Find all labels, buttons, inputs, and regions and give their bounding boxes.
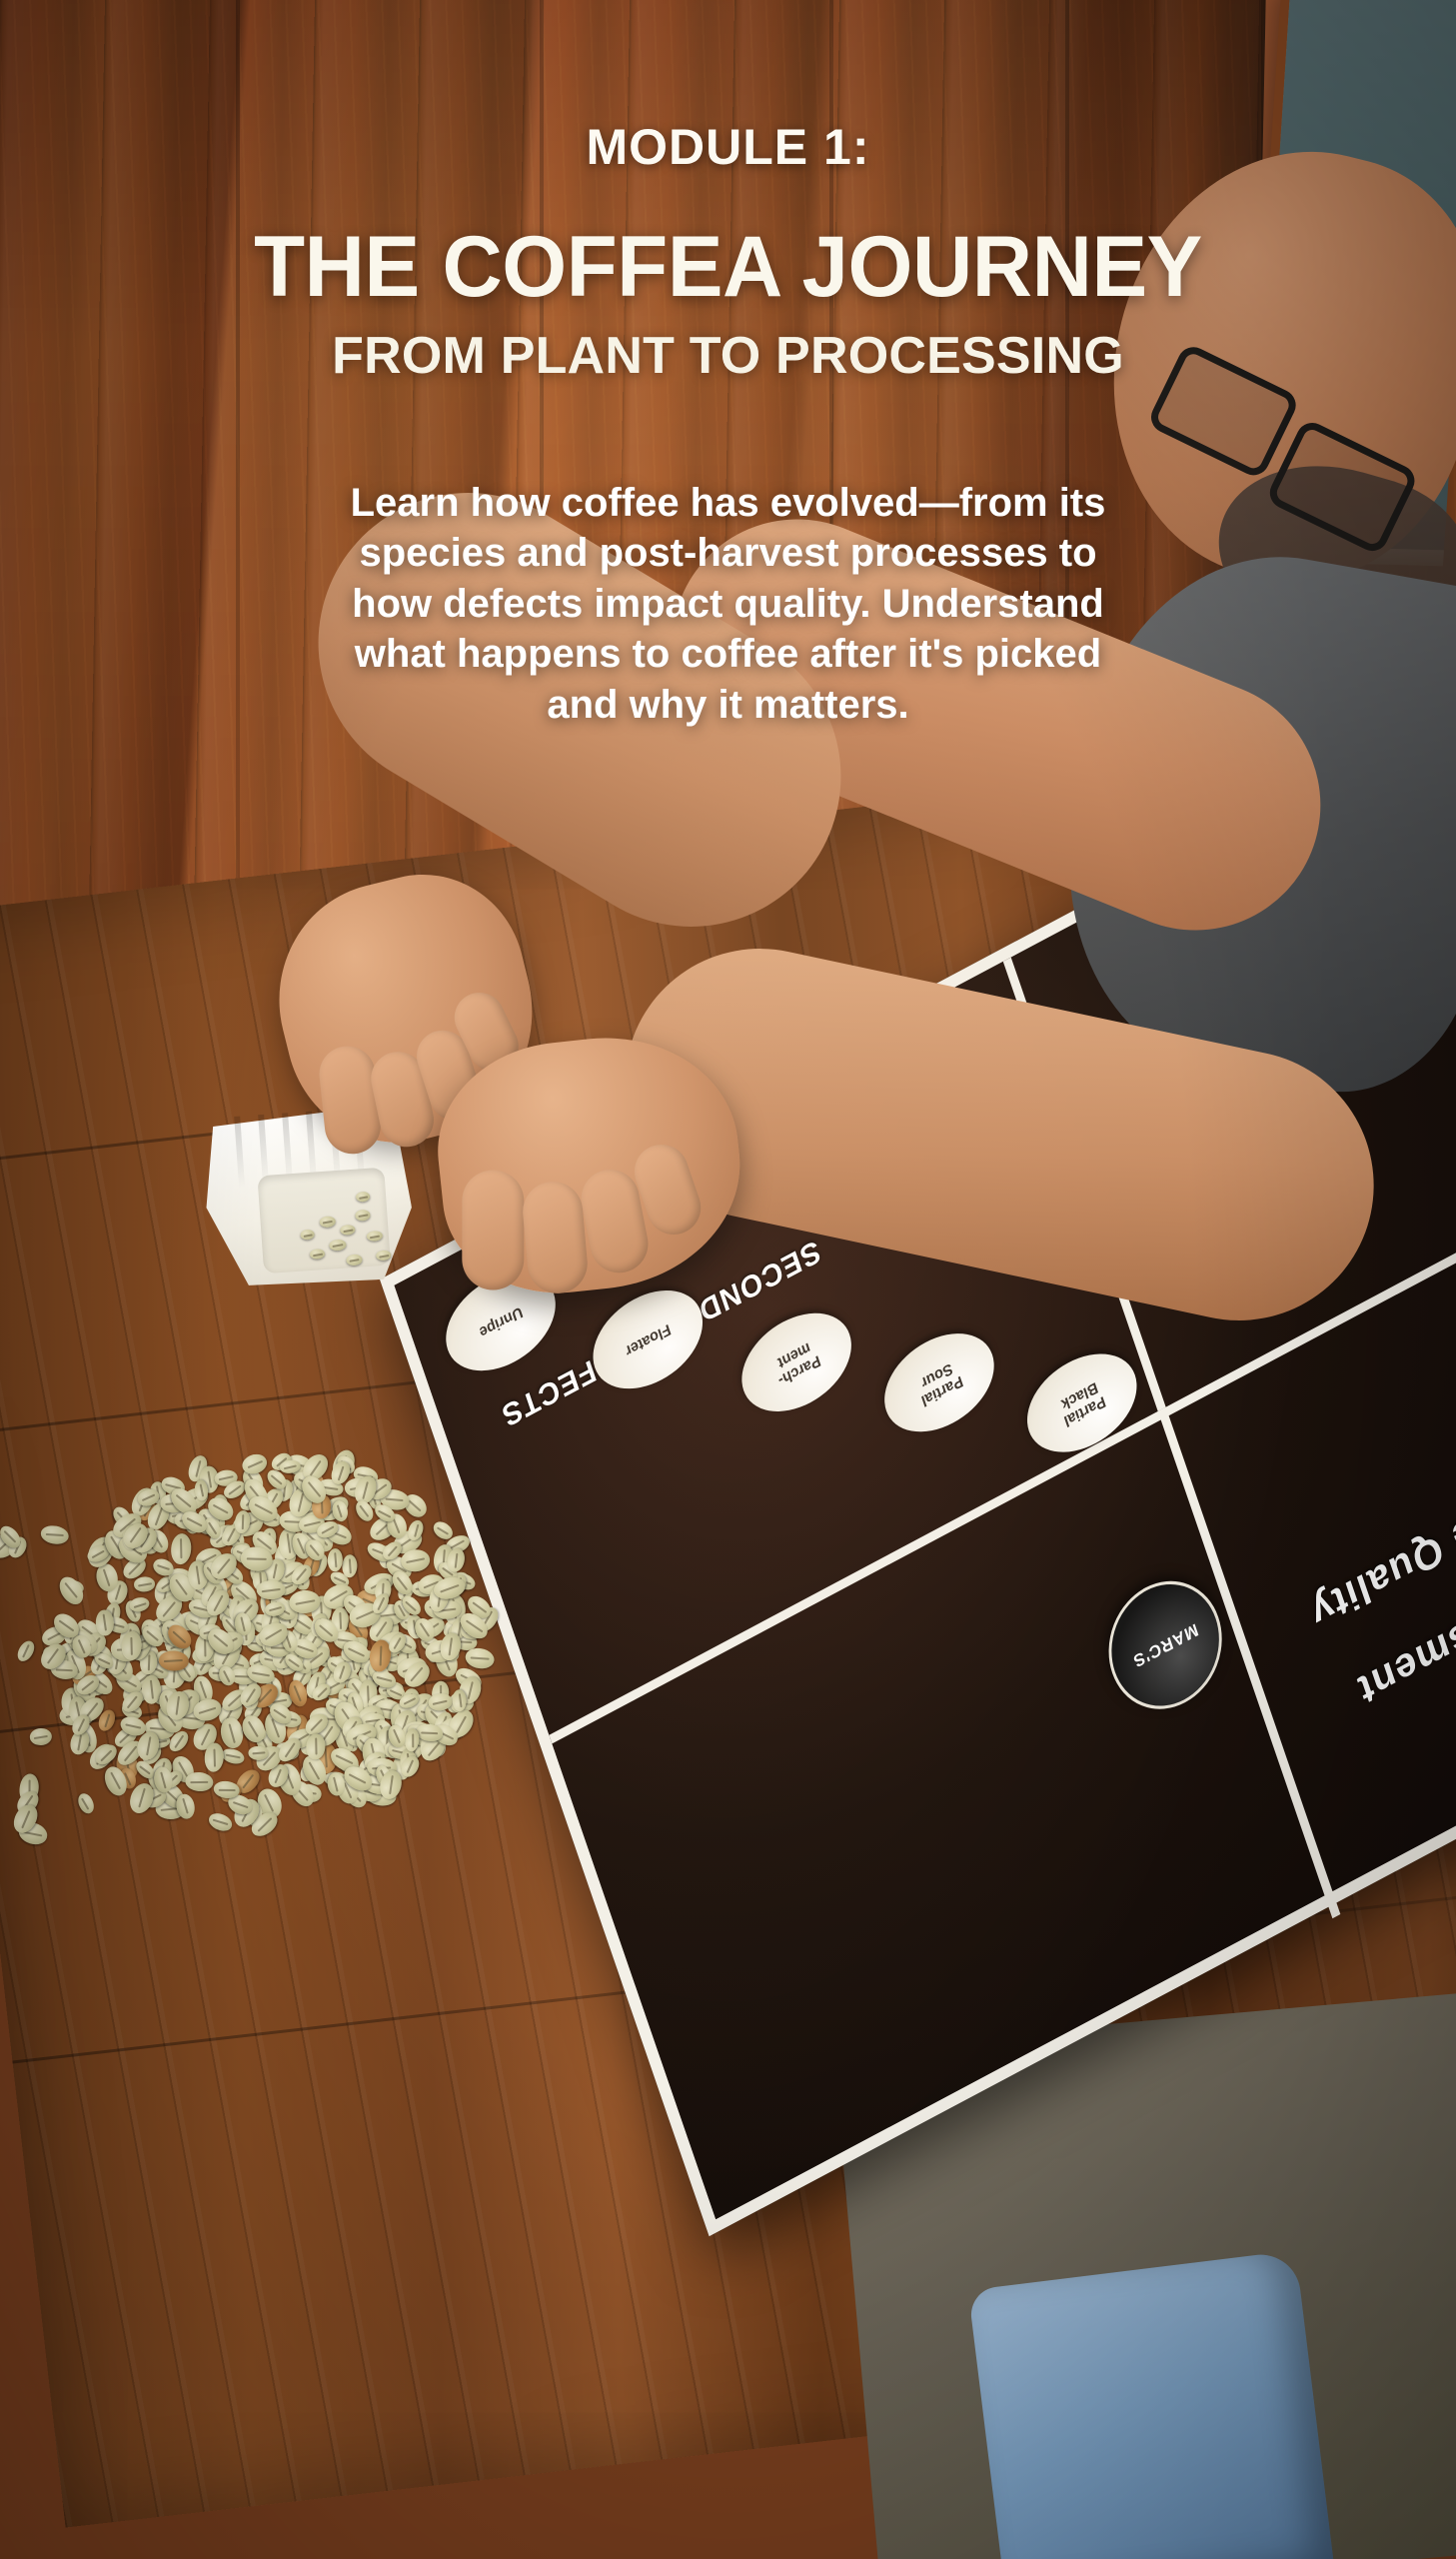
coffee-bean — [452, 1688, 467, 1711]
coffee-bean — [91, 1741, 120, 1768]
coffee-bean — [139, 1622, 167, 1650]
jeans-leg — [968, 2250, 1335, 2559]
coffee-bean — [118, 1688, 146, 1716]
coffee-bean — [36, 1639, 70, 1673]
coffee-bean — [101, 1763, 130, 1798]
coffee-bean — [204, 1742, 225, 1772]
coffee-bean — [75, 1791, 96, 1816]
coffee-bean — [342, 1554, 358, 1578]
scattered-beans — [0, 1511, 241, 1847]
page-title: THE COFFEA JOURNEY — [68, 224, 1387, 310]
coffee-bean — [164, 1620, 196, 1653]
text-overlay: MODULE 1: THE COFFEA JOURNEY FROM PLANT … — [0, 0, 1456, 730]
coffee-bean — [29, 1727, 52, 1745]
poster: SECONDARY DEFECTS PRIMARY DEFECTS Green … — [0, 0, 1456, 2559]
coffee-bean — [158, 1650, 189, 1672]
coffee-bean — [39, 1523, 69, 1545]
coffee-bean — [185, 1770, 215, 1791]
coffee-bean — [14, 1638, 37, 1664]
page-subtitle: FROM PLANT TO PROCESSING — [48, 326, 1408, 386]
coffee-bean — [249, 1745, 269, 1759]
coffee-bean — [95, 1707, 118, 1734]
coffee-bean — [327, 1548, 342, 1572]
body-paragraph: Learn how coffee has evolved—from its sp… — [329, 478, 1128, 730]
coffee-bean — [152, 1766, 174, 1795]
coffee-bean — [126, 1780, 158, 1817]
coffee-bean — [119, 1518, 153, 1552]
module-kicker: MODULE 1: — [48, 118, 1408, 176]
